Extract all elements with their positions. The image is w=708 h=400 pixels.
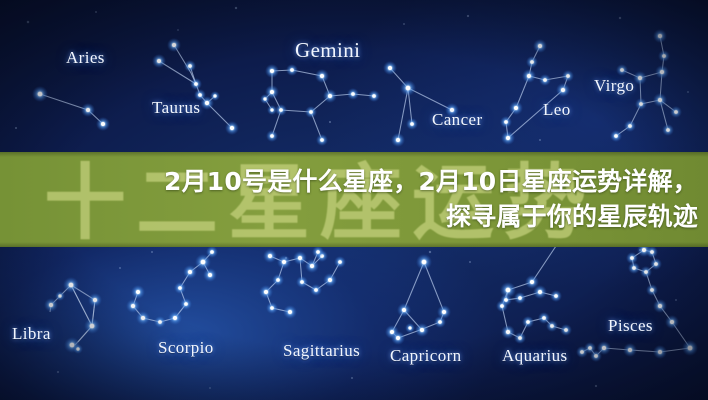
constellation-taurus	[152, 38, 239, 135]
constellation-libra	[44, 277, 102, 354]
banner-bottom-shadow	[0, 242, 708, 247]
page-title-line-1: 2月10号是什么星座，2月10日星座运势详解，	[8, 164, 698, 199]
constellation-pisces	[576, 243, 698, 362]
constellation-aries	[32, 86, 110, 131]
constellation-scorpio	[126, 246, 218, 328]
title-banner: 十二星座运势 2月10号是什么星座，2月10日星座运势详解， 探寻属于你的星辰轨…	[0, 152, 708, 247]
page-title: 2月10号是什么星座，2月10日星座运势详解， 探寻属于你的星辰轨迹	[8, 164, 698, 234]
constellation-cancer	[383, 61, 459, 147]
constellation-virgo	[610, 29, 682, 142]
constellation-aquarius	[496, 233, 572, 344]
constellation-sagittarius	[259, 246, 346, 319]
constellation-capricorn	[385, 254, 451, 345]
constellation-leo	[500, 39, 574, 145]
zodiac-banner-image: Aries Taurus Gemini Cancer Leo Virgo Lib…	[0, 0, 708, 400]
banner-top-shadow	[0, 152, 708, 157]
page-title-line-2: 探寻属于你的星辰轨迹	[8, 199, 698, 234]
constellation-gemini	[260, 64, 380, 146]
